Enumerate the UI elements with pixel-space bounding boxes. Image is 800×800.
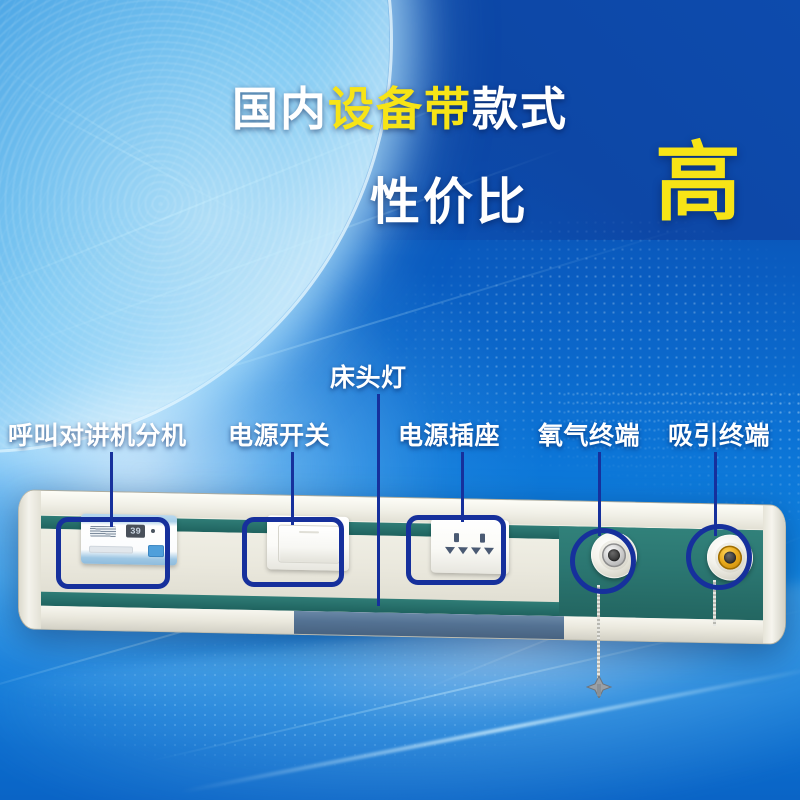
- marker-intercom: [56, 517, 170, 589]
- callout-label-power-socket: 电源插座: [398, 416, 500, 452]
- marker-power-socket: [406, 515, 506, 585]
- callout-group: 呼叫对讲机分机 电源开关 床头灯 电源插座 氧气终端 吸引终端: [0, 0, 800, 800]
- callout-label-bed-lamp: 床头灯: [330, 358, 407, 394]
- marker-suction: [686, 524, 752, 590]
- leader-line-power-switch: [291, 452, 294, 525]
- leader-line-power-socket: [461, 452, 464, 522]
- leader-line-oxygen: [598, 452, 601, 536]
- callout-label-suction: 吸引终端: [668, 416, 770, 452]
- leader-line-bed-lamp: [377, 394, 380, 606]
- callout-label-power-switch: 电源开关: [228, 416, 330, 452]
- callout-label-intercom: 呼叫对讲机分机: [8, 416, 187, 452]
- promo-banner: 国内设备带款式 性价比 高 呼叫对讲机分机 电源开关 床头灯 电源插座 氧气终端…: [0, 0, 800, 800]
- leader-line-intercom: [110, 452, 113, 527]
- callout-label-oxygen: 氧气终端: [538, 416, 640, 452]
- marker-power-switch: [242, 517, 344, 587]
- marker-oxygen: [570, 528, 636, 594]
